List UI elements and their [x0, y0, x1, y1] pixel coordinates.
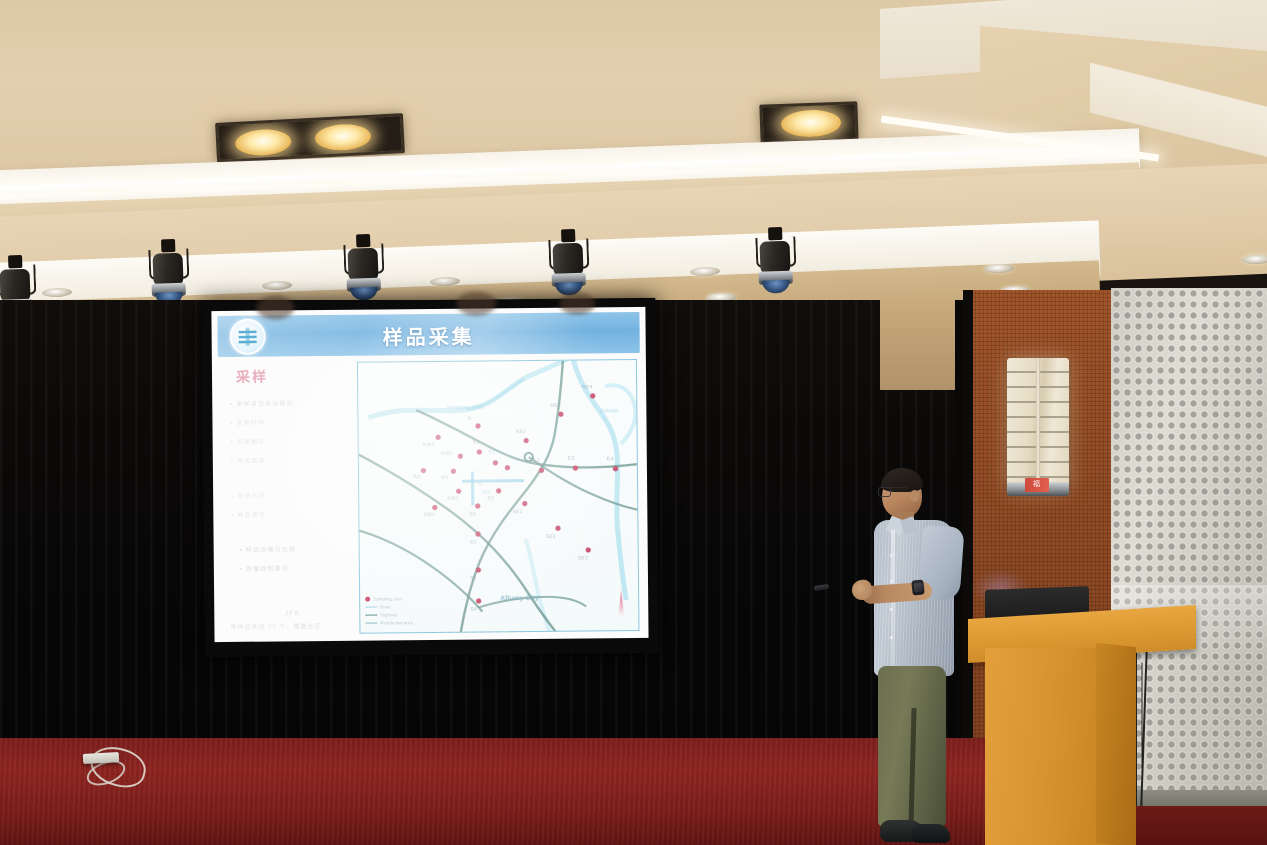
sampling-site-dot	[493, 460, 498, 465]
legend-row: River	[365, 604, 413, 609]
sampling-site-dot	[451, 469, 456, 474]
presenter-ear	[910, 490, 919, 502]
sampling-site-dot	[477, 450, 482, 455]
sampling-site-label: E4	[607, 456, 614, 462]
presentation-slide: 样品采集 采样 • 采样点位布设原则 • 采样时间 • 采样频次 • 样品类型 …	[211, 307, 648, 642]
sampling-site-dot	[475, 504, 480, 509]
sampling-site-dot	[458, 454, 463, 459]
sampling-site-map: Km Tennessee River Cohutta Albany City N…	[357, 359, 640, 634]
slide-bullet: • 采样频次	[231, 436, 353, 446]
sampling-site-dot	[476, 568, 481, 573]
sampling-site-label: S4	[470, 607, 477, 613]
sampling-site-label: NE	[473, 440, 481, 446]
legend-label: Highway	[380, 612, 397, 617]
sampling-site-label: S1	[487, 495, 494, 501]
sampling-site-dot	[432, 505, 437, 510]
sampling-site-dot	[505, 465, 510, 470]
lamp-bulb-icon	[314, 123, 371, 152]
slide-footnote: 采样点共设 21 个，覆盖全区	[230, 621, 354, 631]
slide-bullet: • 样品类型	[231, 455, 353, 465]
presenter	[860, 468, 1000, 845]
sampling-site-label: NE3	[550, 403, 561, 409]
sampling-site-label: C	[479, 481, 483, 487]
legend-row: Highway	[365, 612, 413, 617]
power-strip[interactable]	[83, 752, 119, 764]
slide-bullet: • 采样方法	[231, 490, 353, 500]
sampling-site-label: SE1	[512, 509, 522, 515]
legend-label: Residential area	[380, 620, 413, 625]
sampling-site-dot	[558, 412, 563, 417]
legend-line-swatch	[365, 606, 377, 608]
sampling-site-label: E1	[489, 449, 496, 455]
map-scalebar	[462, 471, 524, 490]
map-city-label: Albany City	[500, 595, 539, 602]
slide-bullet: • 采样点位布设原则	[230, 398, 352, 408]
slide-footnote-label: JFK	[230, 610, 354, 618]
sampling-site-dot	[456, 489, 461, 494]
legend-row: Residential area	[365, 620, 413, 625]
sampling-site-dot	[539, 468, 544, 473]
eyeglass-lens	[878, 487, 891, 497]
slide-bullet: • 样品保存	[231, 509, 353, 519]
sampling-site-label: N	[467, 416, 471, 422]
slide-bullet: • 质量控制要求	[240, 563, 354, 573]
shirt-button	[890, 554, 893, 557]
slide-title: 样品采集	[218, 319, 640, 352]
sampling-site-label: NW1	[441, 451, 453, 457]
smartwatch-face	[913, 583, 923, 593]
sampling-site-label: S5	[470, 576, 477, 582]
sampling-site-label: NE4	[582, 384, 593, 390]
legend-label: River	[380, 604, 391, 609]
wall-sconce-lamp	[1007, 358, 1069, 492]
sampling-site-label: SE2	[546, 534, 556, 540]
map-legend: Sampling sites River Highway Residential…	[365, 596, 413, 628]
sampling-site-label: S3	[470, 540, 477, 546]
sampling-site-label: W2	[413, 474, 421, 480]
sampling-site-dot	[421, 468, 426, 473]
slide-footnote-block: JFK 采样点共设 21 个，覆盖全区	[230, 610, 354, 631]
legend-line-swatch	[365, 614, 377, 616]
downlight-can-icon	[1242, 254, 1267, 264]
sampling-site-dot	[475, 424, 480, 429]
projection-screen[interactable]: 样品采集 采样 • 采样点位布设原则 • 采样时间 • 采样频次 • 样品类型 …	[201, 298, 658, 657]
sampling-site-dot	[590, 393, 595, 398]
sampling-site-label: SE3	[578, 555, 588, 561]
slide-left-column: 采样 • 采样点位布设原则 • 采样时间 • 采样频次 • 样品类型 • 采样方…	[226, 362, 355, 635]
sampling-site-dot	[573, 466, 578, 471]
slide-bullet: • 采样时间	[230, 417, 352, 427]
podium-side-panel	[1096, 643, 1136, 845]
sampling-site-dot	[496, 488, 501, 493]
sampling-site-label: SW2	[423, 512, 435, 518]
legend-dot-swatch	[365, 597, 370, 602]
sampling-site-label: E2	[533, 458, 540, 464]
shirt-button	[890, 580, 893, 583]
sampling-site-dot	[586, 547, 591, 552]
presenter-shoe-right	[912, 824, 950, 843]
sampling-site-label: W1	[441, 475, 449, 481]
conference-hall-photo: 样品采集 采样 • 采样点位布设原则 • 采样时间 • 采样频次 • 样品类型 …	[0, 0, 1267, 845]
sampling-site-dot	[436, 435, 441, 440]
slide-section-heading: 采样	[236, 366, 352, 387]
sampling-site-dot	[476, 532, 481, 537]
lamp-bulb-icon	[781, 109, 842, 138]
sampling-site-dot	[476, 599, 481, 604]
sampling-site-label: SW1	[447, 496, 459, 502]
sampling-site-dot	[524, 438, 529, 443]
sampling-site-label: S2	[469, 512, 476, 518]
scalebar-vertical	[471, 472, 474, 506]
legend-row: Sampling sites	[365, 596, 413, 601]
sampling-site-label: NE2	[516, 429, 527, 435]
legend-line-swatch	[365, 622, 377, 624]
sampling-site-label: NW2	[423, 442, 435, 448]
sconce-sticker: 福	[1025, 478, 1049, 492]
shirt-button	[890, 636, 893, 639]
sampling-site-dot	[613, 466, 618, 471]
map-river-label: Tennessee River	[446, 404, 483, 410]
legend-label: Sampling sites	[373, 596, 402, 601]
lamp-bulb-icon	[235, 128, 292, 157]
sampling-site-dot	[555, 526, 560, 531]
sconce-midrail	[1036, 358, 1040, 492]
map-place-label: Cohutta	[600, 408, 618, 414]
sampling-site-dot	[522, 501, 527, 506]
shirt-button	[890, 608, 893, 611]
sampling-site-label: E3	[568, 456, 575, 462]
map-vectors	[358, 360, 640, 634]
slide-bullet: • 样品运输与交接	[240, 544, 354, 554]
